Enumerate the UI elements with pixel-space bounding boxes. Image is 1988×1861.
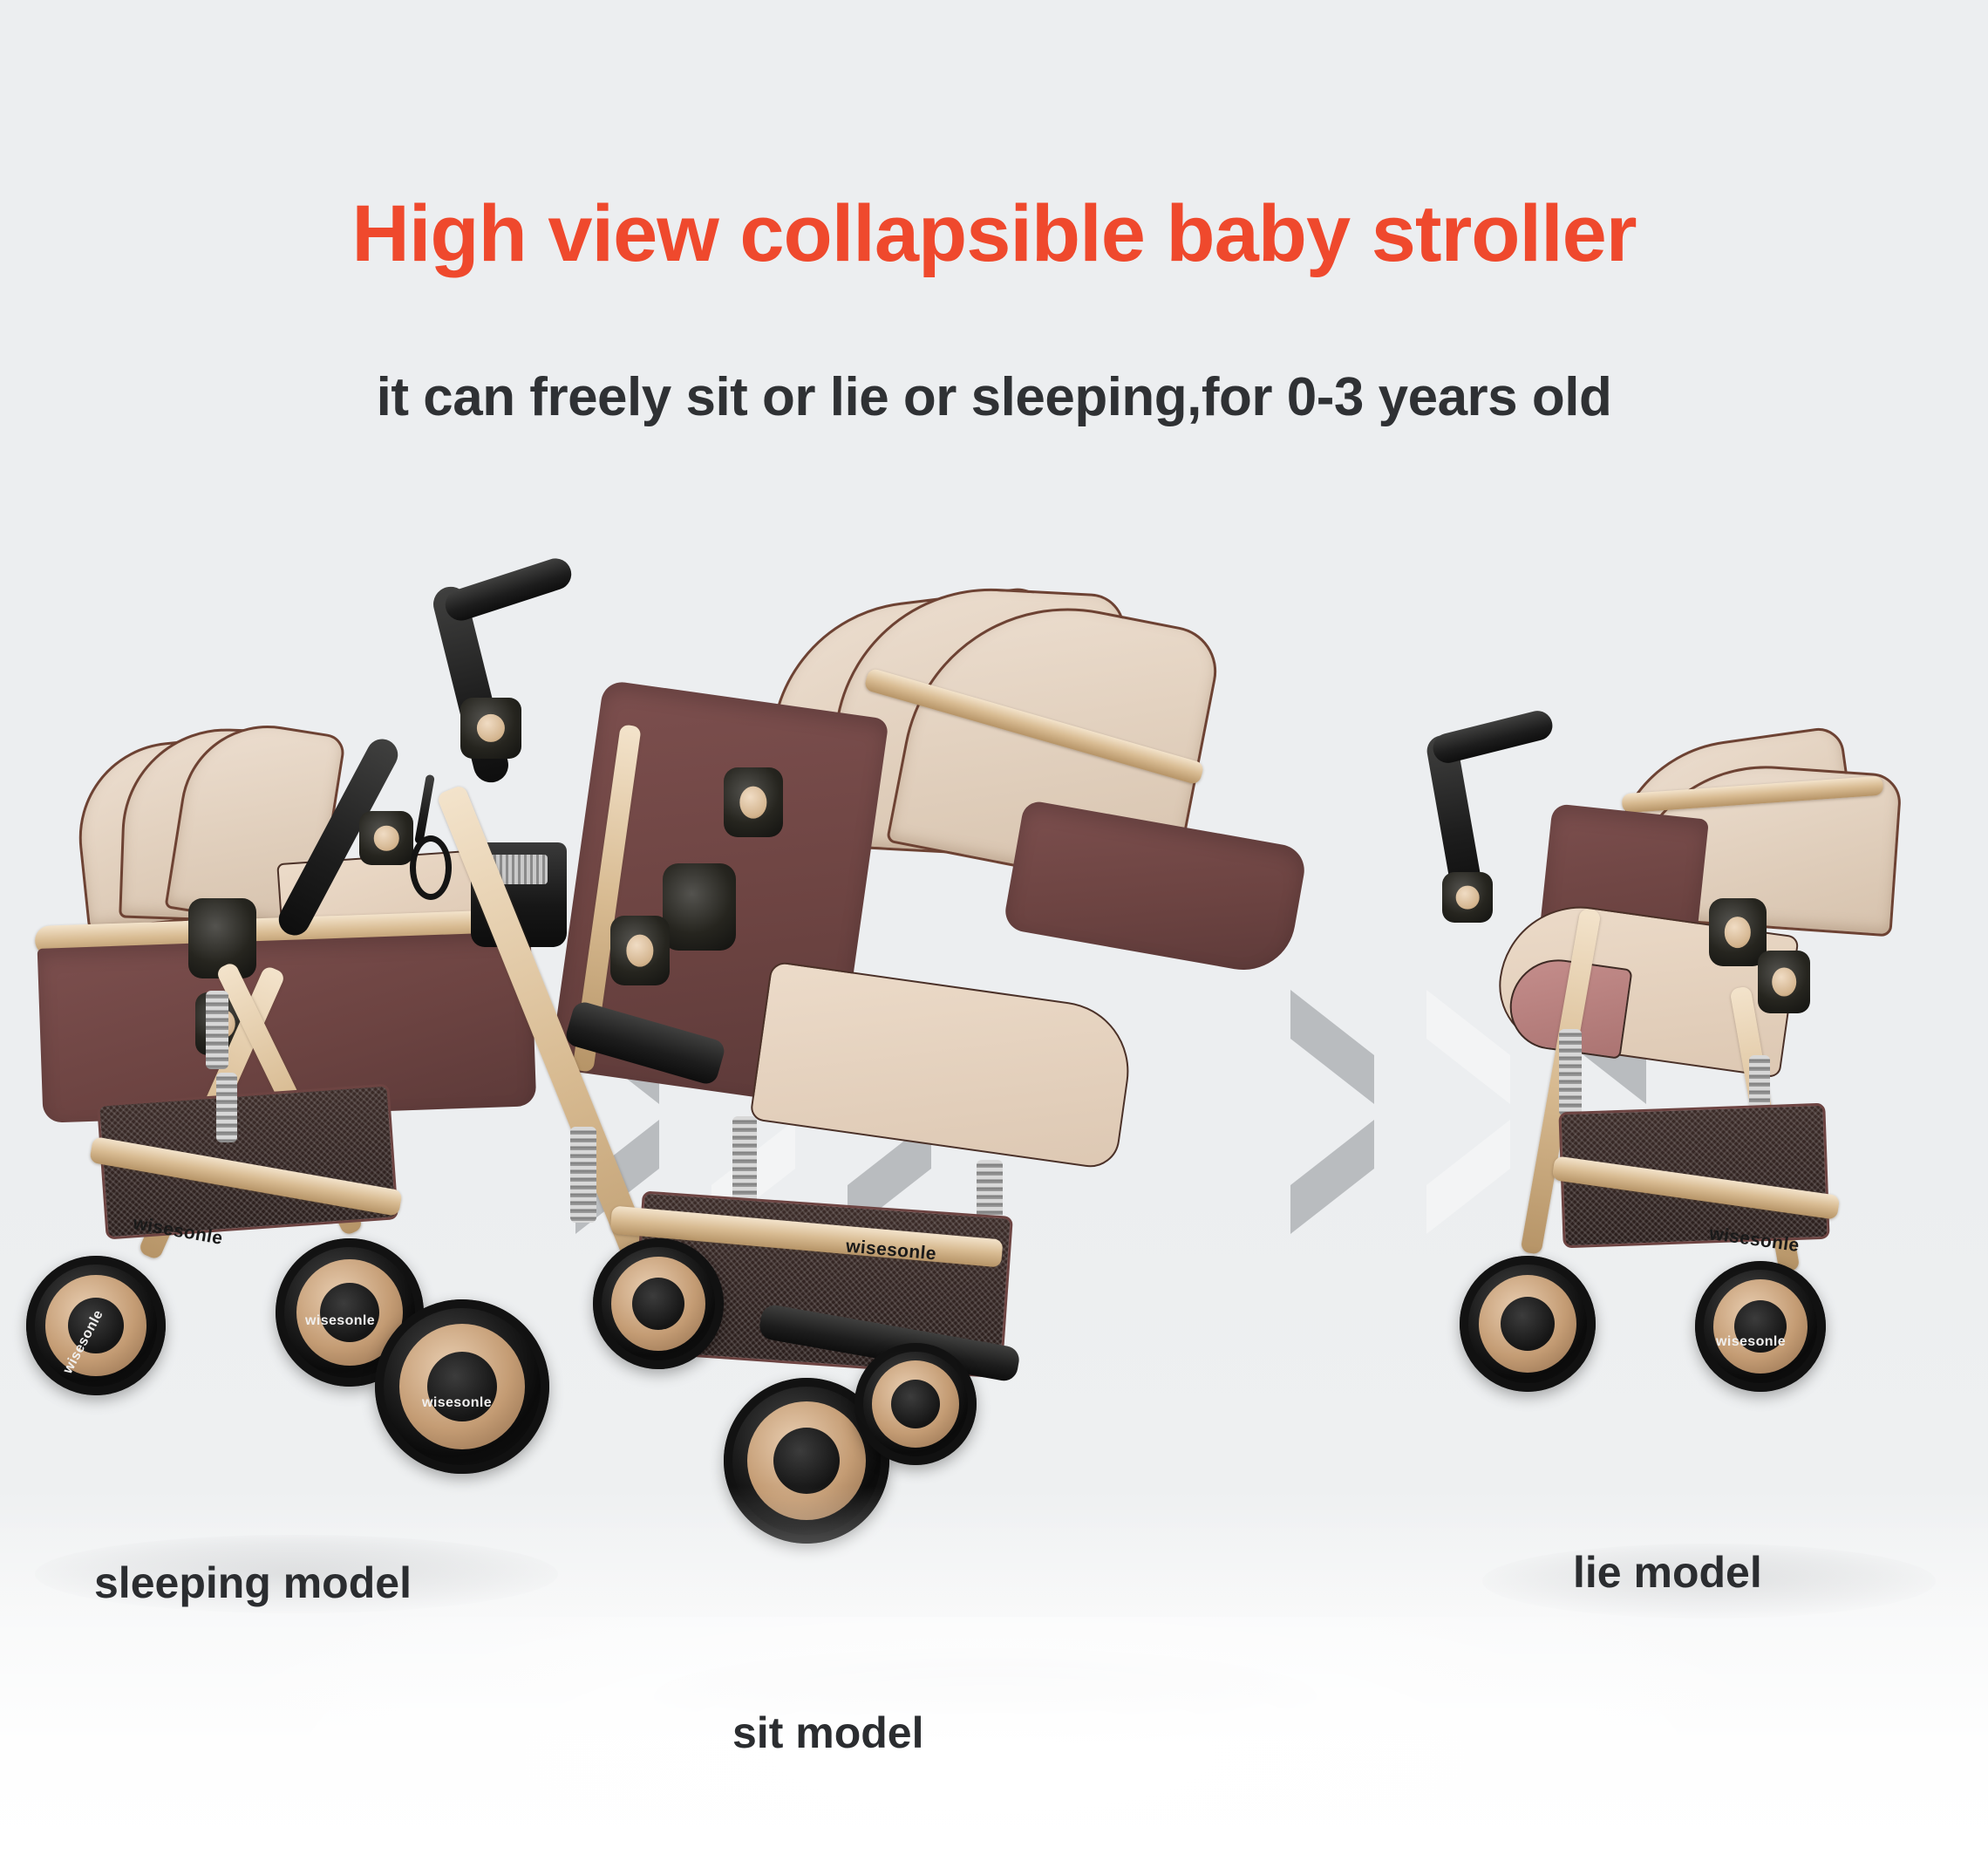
wheel-rear-left — [593, 1238, 724, 1369]
suspension-spring — [1559, 1029, 1582, 1116]
caption-lie-model: lie model — [1573, 1551, 1762, 1594]
product-poster: High view collapsible baby stroller it c… — [0, 0, 1988, 1861]
brand-logo-wheel: wisesonle — [1716, 1334, 1786, 1350]
handle-hinge — [460, 698, 521, 759]
suspension-spring — [206, 991, 228, 1069]
wheel-front — [1460, 1256, 1596, 1392]
suspension-spring — [732, 1116, 757, 1203]
canopy-hinge — [724, 767, 783, 837]
suspension-spring — [216, 1073, 237, 1142]
page-title: High view collapsible baby stroller — [0, 194, 1988, 274]
handle-hinge — [1442, 872, 1493, 923]
product-image-sit-model: wisesonle wisesonle — [602, 593, 1369, 1744]
page-subtitle: it can freely sit or lie or sleeping,for… — [0, 371, 1988, 425]
caption-sit-model: sit model — [732, 1711, 923, 1755]
push-handle-grip — [1430, 708, 1556, 767]
frame-hinge — [663, 863, 736, 951]
caption-sleeping-model: sleeping model — [94, 1561, 412, 1605]
push-handle-grip — [441, 555, 575, 625]
handle-hinge — [359, 811, 413, 865]
wheel-rear — [1695, 1261, 1826, 1392]
suspension-spring — [570, 1127, 596, 1223]
frame-lock — [610, 916, 670, 985]
seat-cushion — [749, 960, 1137, 1170]
product-image-lie-model: wisesonle wisesonle — [1447, 741, 1971, 1613]
brand-logo-wheel: wisesonle — [422, 1395, 492, 1411]
brand-logo-wheel: wisesonle — [305, 1313, 375, 1329]
frame-lock — [1758, 951, 1810, 1013]
wrist-strap-icon — [410, 835, 452, 900]
handle-strap — [414, 774, 435, 845]
canopy-lining — [1002, 799, 1308, 978]
frame-hinge — [1709, 898, 1767, 966]
wheel-front-left — [375, 1299, 549, 1474]
wheel-rear-right — [854, 1343, 977, 1465]
